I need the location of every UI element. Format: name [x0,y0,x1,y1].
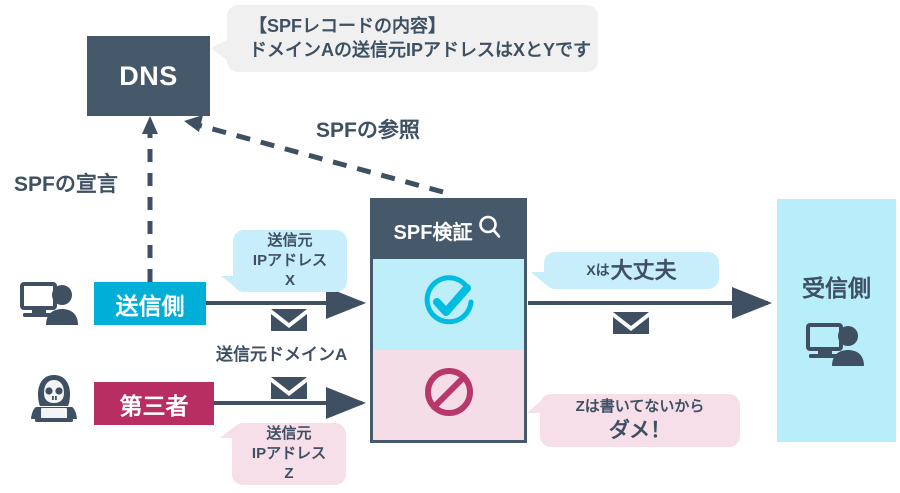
dns-record-bubble: 【SPFレコードの内容】 ドメインAの送信元IPアドレスはXとYです [227,5,598,72]
label-spf-declaration: SPFの宣言 [14,168,118,198]
pass-prefix: Xは [586,261,609,279]
spf-flow-diagram: DNS 【SPFレコードの内容】 ドメインAの送信元IPアドレスはXとYです S… [0,0,900,493]
pass-result-bubble: Xは 大丈夫 [544,252,719,289]
receiver-user-monitor-icon [806,321,868,372]
dns-label: DNS [119,61,178,92]
sender-ip-line3: X [285,271,295,291]
arrow-spf-declaration [142,116,158,282]
sender-label: 送信側 [116,287,185,321]
sender-box: 送信側 [94,282,206,325]
third-party-ip-line1: 送信元 [266,424,311,444]
spf-result-pass [373,259,524,350]
label-sender-domain: 送信元ドメインA [216,340,347,365]
sender-ip-line1: 送信元 [267,231,312,251]
third-party-label: 第三者 [120,387,189,421]
sender-ip-bubble: 送信元 IPアドレス X [233,230,347,292]
spf-check-panel: SPF検証 [370,198,527,443]
receiver-label: 受信側 [802,269,871,303]
envelope-icon-sender [269,305,309,340]
pass-emphasis: 大丈夫 [611,256,677,285]
sender-ip-line2: IPアドレス [253,251,327,271]
fail-line2: ダメ！ [609,417,671,445]
spf-check-label: SPF検証 [394,216,473,245]
fail-result-bubble: Zは書いてないから ダメ！ [540,394,740,447]
receiver-box: 受信側 [777,199,896,442]
label-spf-lookup: SPFの参照 [316,114,420,144]
third-party-ip-line3: Z [284,464,293,484]
bubble-tail [221,276,235,287]
spf-check-header: SPF検証 [373,201,524,259]
hacker-icon [26,373,82,430]
bubble-tail [527,400,542,413]
bubble-tail [531,272,546,285]
spf-result-fail [373,350,524,441]
third-party-box: 第三者 [94,382,214,425]
check-circle-icon [420,273,478,336]
third-party-ip-line2: IPアドレス [252,444,326,464]
bubble-tail [211,39,229,62]
envelope-icon-receiver [611,308,651,343]
envelope-icon-third-party [269,373,309,408]
prohibition-icon [420,363,478,426]
third-party-ip-bubble: 送信元 IPアドレス Z [232,423,346,485]
magnifier-icon [477,214,503,246]
dns-bubble-line1: 【SPFレコードの内容】 [249,15,598,39]
dns-bubble-line2: ドメインAの送信元IPアドレスはXとYです [249,39,598,63]
dns-box: DNS [87,36,210,116]
bubble-tail [220,427,234,438]
sender-user-monitor-icon [20,280,82,331]
fail-line1: Zは書いてないから [576,397,705,417]
